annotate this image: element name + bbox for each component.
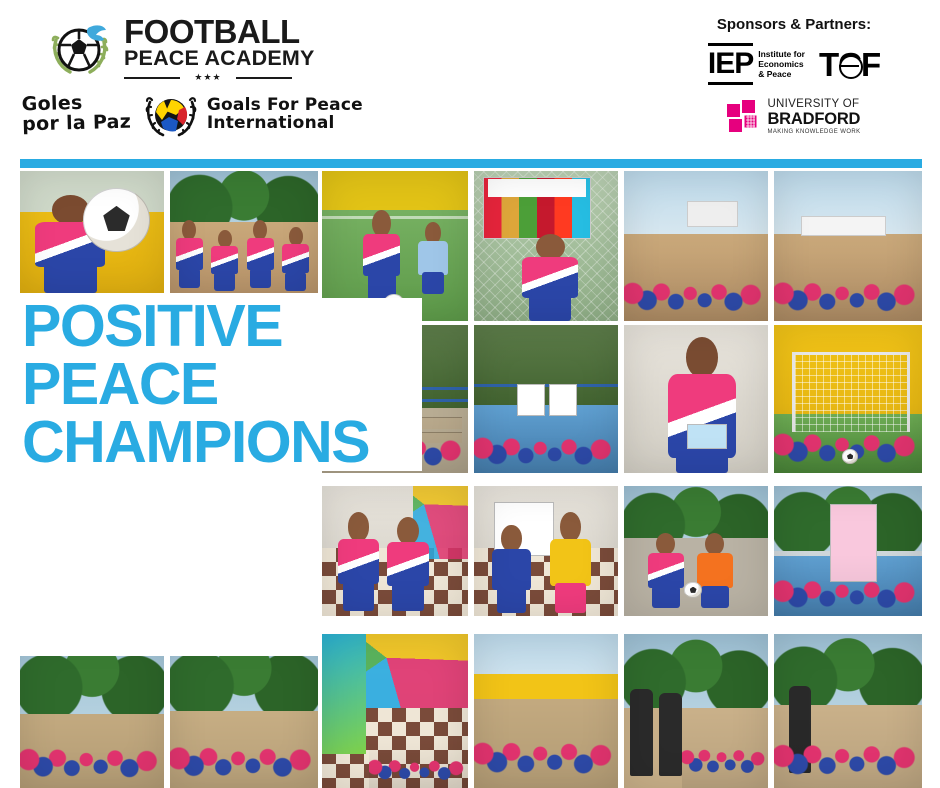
photo-tile [774, 634, 922, 788]
photo-tile [322, 486, 468, 616]
goals-for-peace-laurel-ball-icon [141, 88, 201, 140]
goals-line-2: International [207, 114, 363, 132]
photo-tile [624, 634, 768, 788]
tcf-logo: TCF [819, 48, 880, 81]
goals-line-1: Goals For Peace [207, 96, 363, 114]
photo-tile [774, 325, 922, 473]
sponsors-block: Sponsors & Partners: IEP Institute for E… [664, 16, 924, 135]
bradford-crest-icon [727, 100, 761, 134]
goals-for-peace-wordmark: Goals For Peace International [207, 96, 363, 133]
iep-descriptor-line-2: Economics [758, 59, 805, 69]
photo-tile [170, 171, 318, 293]
photo-tile [474, 486, 618, 616]
header: FOOTBALL PEACE ACADEMY ★★★ Goles por la … [0, 0, 940, 158]
iep-logo: IEP Institute for Economics & Peace [708, 43, 805, 85]
bradford-line-1: UNIVERSITY OF [767, 99, 860, 111]
iep-descriptor-line-3: & Peace [758, 69, 805, 79]
soccer-ball-laurel-dove-icon [46, 18, 118, 80]
photo-tile [624, 325, 768, 473]
photo-tile [474, 325, 618, 473]
goles-por-la-paz-wordmark: Goles por la Paz [21, 93, 131, 136]
goals-for-peace-logo: Goles por la Paz Goals For Peace [22, 88, 363, 140]
iep-descriptor-line-1: Institute for [758, 49, 805, 59]
goles-line-2: por la Paz [22, 113, 131, 136]
fpa-subtitle: PEACE ACADEMY [124, 48, 315, 70]
iep-lockup: IEP [708, 43, 753, 85]
fpa-title: FOOTBALL [124, 16, 315, 47]
globe-icon [839, 55, 863, 79]
photo-collage [0, 168, 940, 788]
accent-bar [20, 159, 922, 168]
university-of-bradford-logo: UNIVERSITY OF BRADFORD MAKING KNOWLEDGE … [664, 99, 924, 135]
title-line-3: CHAMPIONS [22, 414, 422, 472]
bradford-tagline: MAKING KNOWLEDGE WORK [767, 129, 860, 135]
iep-rule-bottom [708, 82, 753, 85]
photo-tile [774, 171, 922, 321]
sponsors-label: Sponsors & Partners: [664, 16, 924, 33]
title-line-1: POSITIVE [22, 298, 422, 356]
photo-tile [20, 171, 164, 293]
photo-tile [322, 634, 468, 788]
photo-tile [20, 634, 164, 788]
photo-tile [774, 486, 922, 616]
headline-backdrop [0, 458, 322, 656]
bradford-line-2: BRADFORD [767, 111, 860, 128]
page-title: POSITIVE PEACE CHAMPIONS [22, 298, 422, 471]
photo-tile [474, 171, 618, 321]
bradford-wordmark: UNIVERSITY OF BRADFORD MAKING KNOWLEDGE … [767, 99, 860, 135]
iep-descriptor: Institute for Economics & Peace [758, 49, 805, 79]
photo-tile [474, 634, 618, 788]
sponsor-logo-row: IEP Institute for Economics & Peace TCF [664, 43, 924, 85]
photo-tile [624, 486, 768, 616]
title-line-2: PEACE [22, 356, 422, 414]
fpa-divider: ★★★ [124, 73, 292, 83]
football-peace-academy-wordmark: FOOTBALL PEACE ACADEMY ★★★ [124, 16, 315, 83]
iep-letters: IEP [708, 46, 753, 82]
poster-canvas: FOOTBALL PEACE ACADEMY ★★★ Goles por la … [0, 0, 940, 788]
photo-tile [624, 171, 768, 321]
photo-tile [170, 634, 318, 788]
football-peace-academy-logo: FOOTBALL PEACE ACADEMY ★★★ [46, 16, 315, 83]
